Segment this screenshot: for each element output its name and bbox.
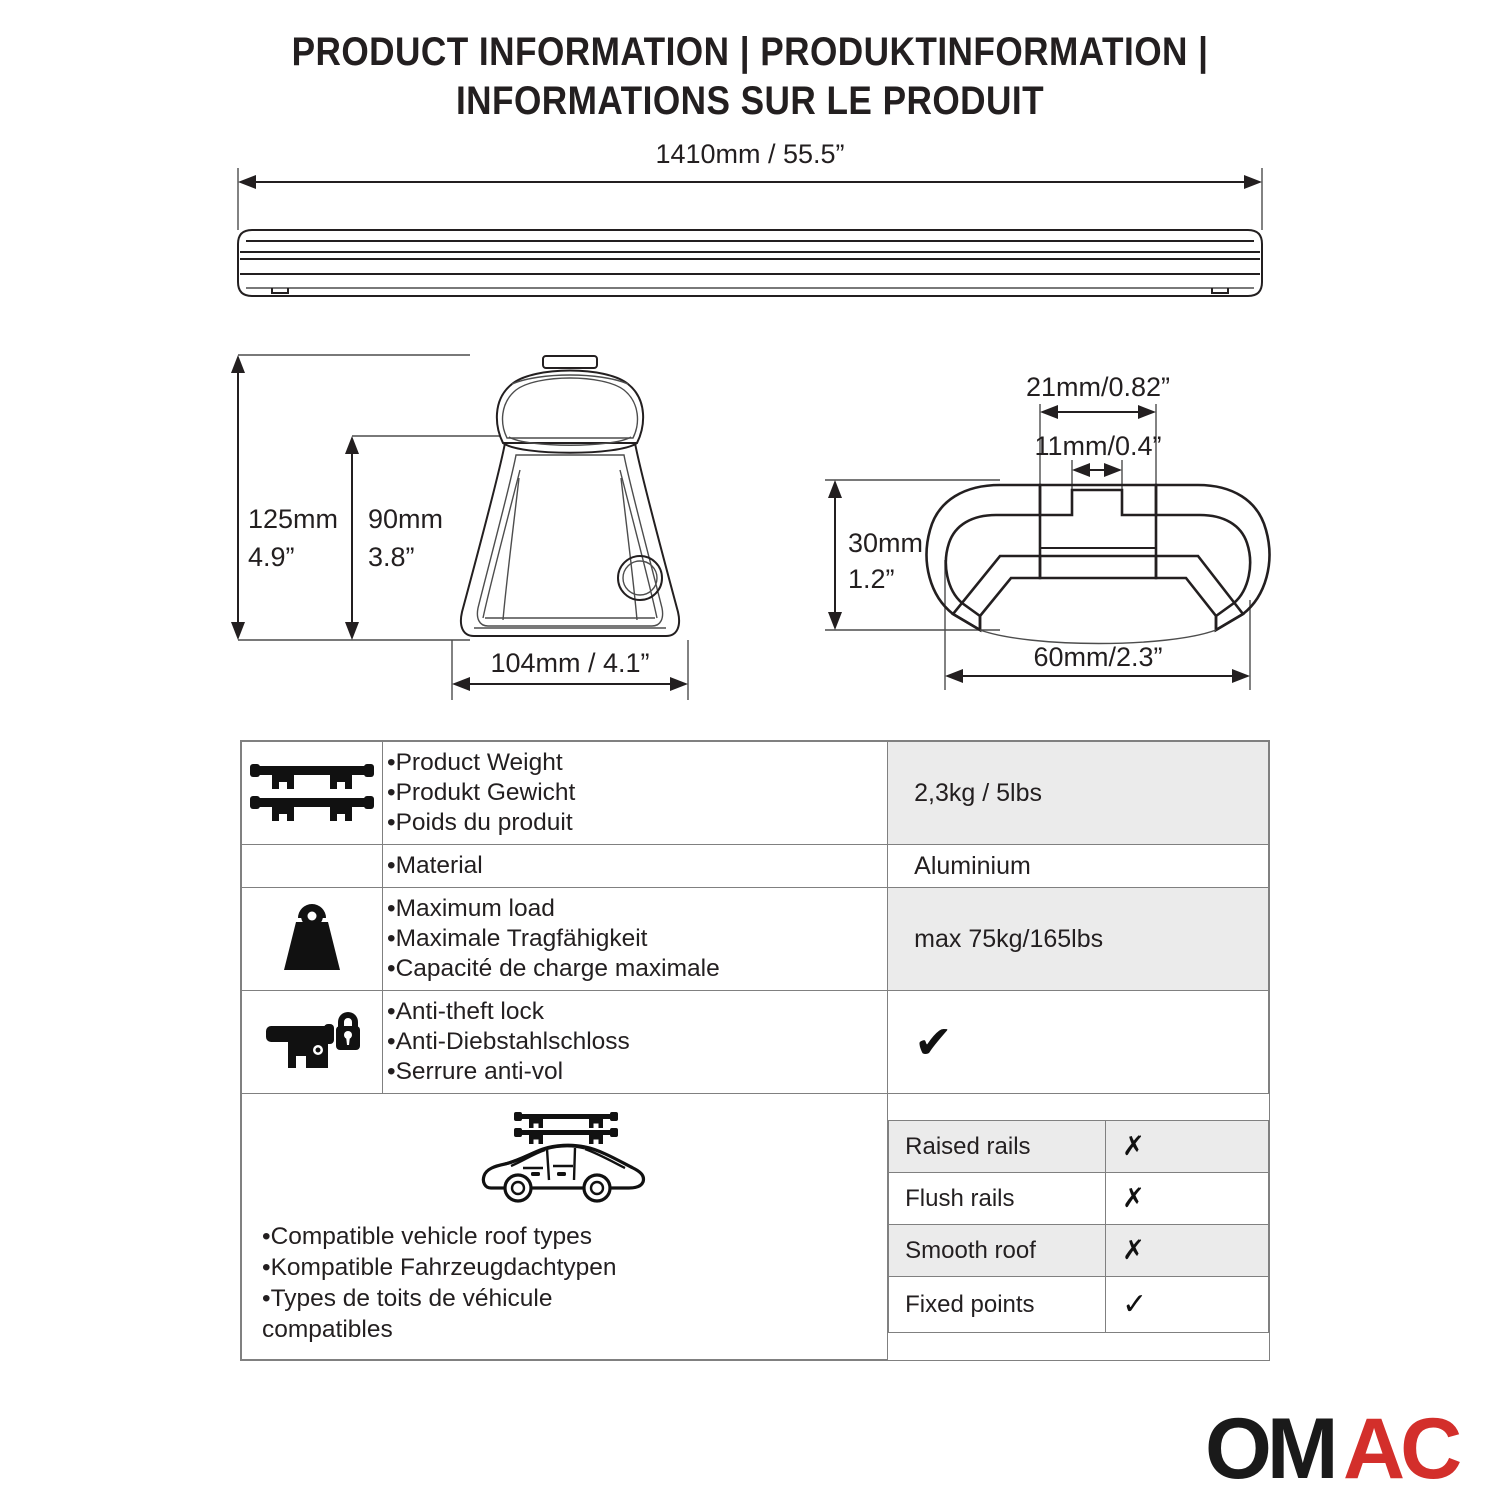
page-title-line-1: PRODUCT INFORMATION | PRODUKTINFORMATION…	[90, 28, 1410, 77]
car-with-rack-icon	[475, 1108, 655, 1212]
material-icon-cell	[242, 845, 383, 888]
profile-slot-inner-label: 11mm/0.4”	[1034, 431, 1161, 461]
lock-icon-cell	[242, 991, 383, 1094]
product-weight-value: 2,3kg / 5lbs	[888, 742, 1269, 845]
label-fr: •Poids du produit	[387, 808, 879, 838]
car-with-rack-icon-wrap	[242, 1094, 887, 1217]
table-row-roof-types: •Compatible vehicle roof types •Kompatib…	[242, 1094, 1269, 1360]
tower-height-outer-in: 4.9”	[248, 542, 295, 572]
material-labels-cell: •Material	[383, 845, 888, 888]
label-en: •Material	[387, 851, 879, 881]
omac-logo-mark: OM AC	[1205, 1412, 1495, 1492]
roof-type-name: Flush rails	[889, 1173, 1106, 1225]
roof-types-label-list: •Compatible vehicle roof types •Kompatib…	[242, 1217, 887, 1359]
label-de: •Anti-Diebstahlschloss	[387, 1027, 879, 1057]
bar-length-drawing	[238, 168, 1262, 296]
roof-type-name: Smooth roof	[889, 1225, 1106, 1277]
cross-icon: ✗	[1122, 1235, 1145, 1265]
roof-type-mark: ✗	[1106, 1121, 1268, 1173]
table-row: •Product Weight •Produkt Gewicht •Poids …	[242, 742, 1269, 845]
roof-type-mark: ✓	[1106, 1277, 1268, 1333]
label-list: •Product Weight •Produkt Gewicht •Poids …	[387, 748, 879, 838]
profile-slot-outer-label: 21mm/0.82”	[1026, 372, 1170, 402]
page-title: PRODUCT INFORMATION | PRODUKTINFORMATION…	[0, 28, 1500, 126]
bar-length-label: 1410mm / 55.5”	[655, 139, 844, 169]
logo-text-dark: OM	[1205, 1412, 1334, 1492]
label-list: •Anti-theft lock •Anti-Diebstahlschloss …	[387, 997, 879, 1087]
weight-icon	[274, 902, 350, 976]
roof-type-row: Raised rails ✗	[889, 1121, 1268, 1173]
table-row: •Material Aluminium	[242, 845, 1269, 888]
label-en: •Maximum load	[387, 894, 879, 924]
tower-height-outer-mm: 125mm	[248, 504, 338, 534]
page-title-line-2: INFORMATIONS SUR LE PRODUIT	[90, 77, 1410, 126]
check-icon: ✔	[914, 1016, 953, 1068]
lock-icon	[260, 1006, 364, 1078]
table-row: •Maximum load •Maximale Tragfähigkeit •C…	[242, 888, 1269, 991]
crossbars-icon-cell	[242, 742, 383, 845]
label-list: •Maximum load •Maximale Tragfähigkeit •C…	[387, 894, 879, 984]
profile-height-mm: 30mm	[848, 528, 923, 558]
material-value: Aluminium	[888, 845, 1269, 888]
weight-icon-cell	[242, 888, 383, 991]
anti-theft-labels-cell: •Anti-theft lock •Anti-Diebstahlschloss …	[383, 991, 888, 1094]
label-de: •Maximale Tragfähigkeit	[387, 924, 879, 954]
label-en: •Product Weight	[387, 748, 879, 778]
roof-type-mark: ✗	[1106, 1225, 1268, 1277]
label-de: •Kompatible Fahrzeugdachtypen	[262, 1252, 887, 1283]
tower-height-inner-mm: 90mm	[368, 504, 443, 534]
label-list: •Material	[387, 851, 879, 881]
label-fr: •Capacité de charge maximale	[387, 954, 879, 984]
product-weight-labels-cell: •Product Weight •Produkt Gewicht •Poids …	[383, 742, 888, 845]
table-row: •Anti-theft lock •Anti-Diebstahlschloss …	[242, 991, 1269, 1094]
logo-text-red: AC	[1343, 1412, 1460, 1492]
product-information-sheet: PRODUCT INFORMATION | PRODUKTINFORMATION…	[0, 0, 1500, 1500]
label-fr-cont: compatibles	[262, 1314, 887, 1345]
check-icon: ✓	[1122, 1288, 1147, 1321]
omac-logo: OM AC	[1205, 1412, 1495, 1497]
label-de: •Produkt Gewicht	[387, 778, 879, 808]
label-fr: •Types de toits de véhicule	[262, 1283, 887, 1314]
crossbars-icon	[246, 760, 378, 826]
profile-height-in: 1.2”	[848, 564, 895, 594]
cross-icon: ✗	[1122, 1131, 1145, 1161]
roof-type-mark: ✗	[1106, 1173, 1268, 1225]
anti-theft-value: ✔	[888, 991, 1269, 1094]
roof-type-name: Fixed points	[889, 1277, 1106, 1333]
tower-height-inner-in: 3.8”	[368, 542, 415, 572]
roof-type-row: Smooth roof ✗	[889, 1225, 1268, 1277]
profile-cross-section-drawing	[825, 404, 1269, 690]
cross-icon: ✗	[1122, 1183, 1145, 1213]
roof-type-row: Flush rails ✗	[889, 1173, 1268, 1225]
label-en: •Compatible vehicle roof types	[262, 1221, 887, 1252]
label-fr: •Serrure anti-vol	[387, 1057, 879, 1087]
roof-types-matrix-cell: Raised rails ✗ Flush rails ✗ Smooth roof…	[888, 1094, 1269, 1360]
roof-type-name: Raised rails	[889, 1121, 1106, 1173]
max-load-labels-cell: •Maximum load •Maximale Tragfähigkeit •C…	[383, 888, 888, 991]
tower-drawing	[231, 355, 688, 700]
label-en: •Anti-theft lock	[387, 997, 879, 1027]
specification-table: •Product Weight •Produkt Gewicht •Poids …	[240, 740, 1270, 1361]
roof-type-row: Fixed points ✓	[889, 1277, 1268, 1333]
tower-width-label: 104mm / 4.1”	[490, 648, 649, 678]
roof-types-labels-cell: •Compatible vehicle roof types •Kompatib…	[242, 1094, 888, 1360]
profile-width-label: 60mm/2.3”	[1033, 642, 1162, 672]
max-load-value: max 75kg/165lbs	[888, 888, 1269, 991]
